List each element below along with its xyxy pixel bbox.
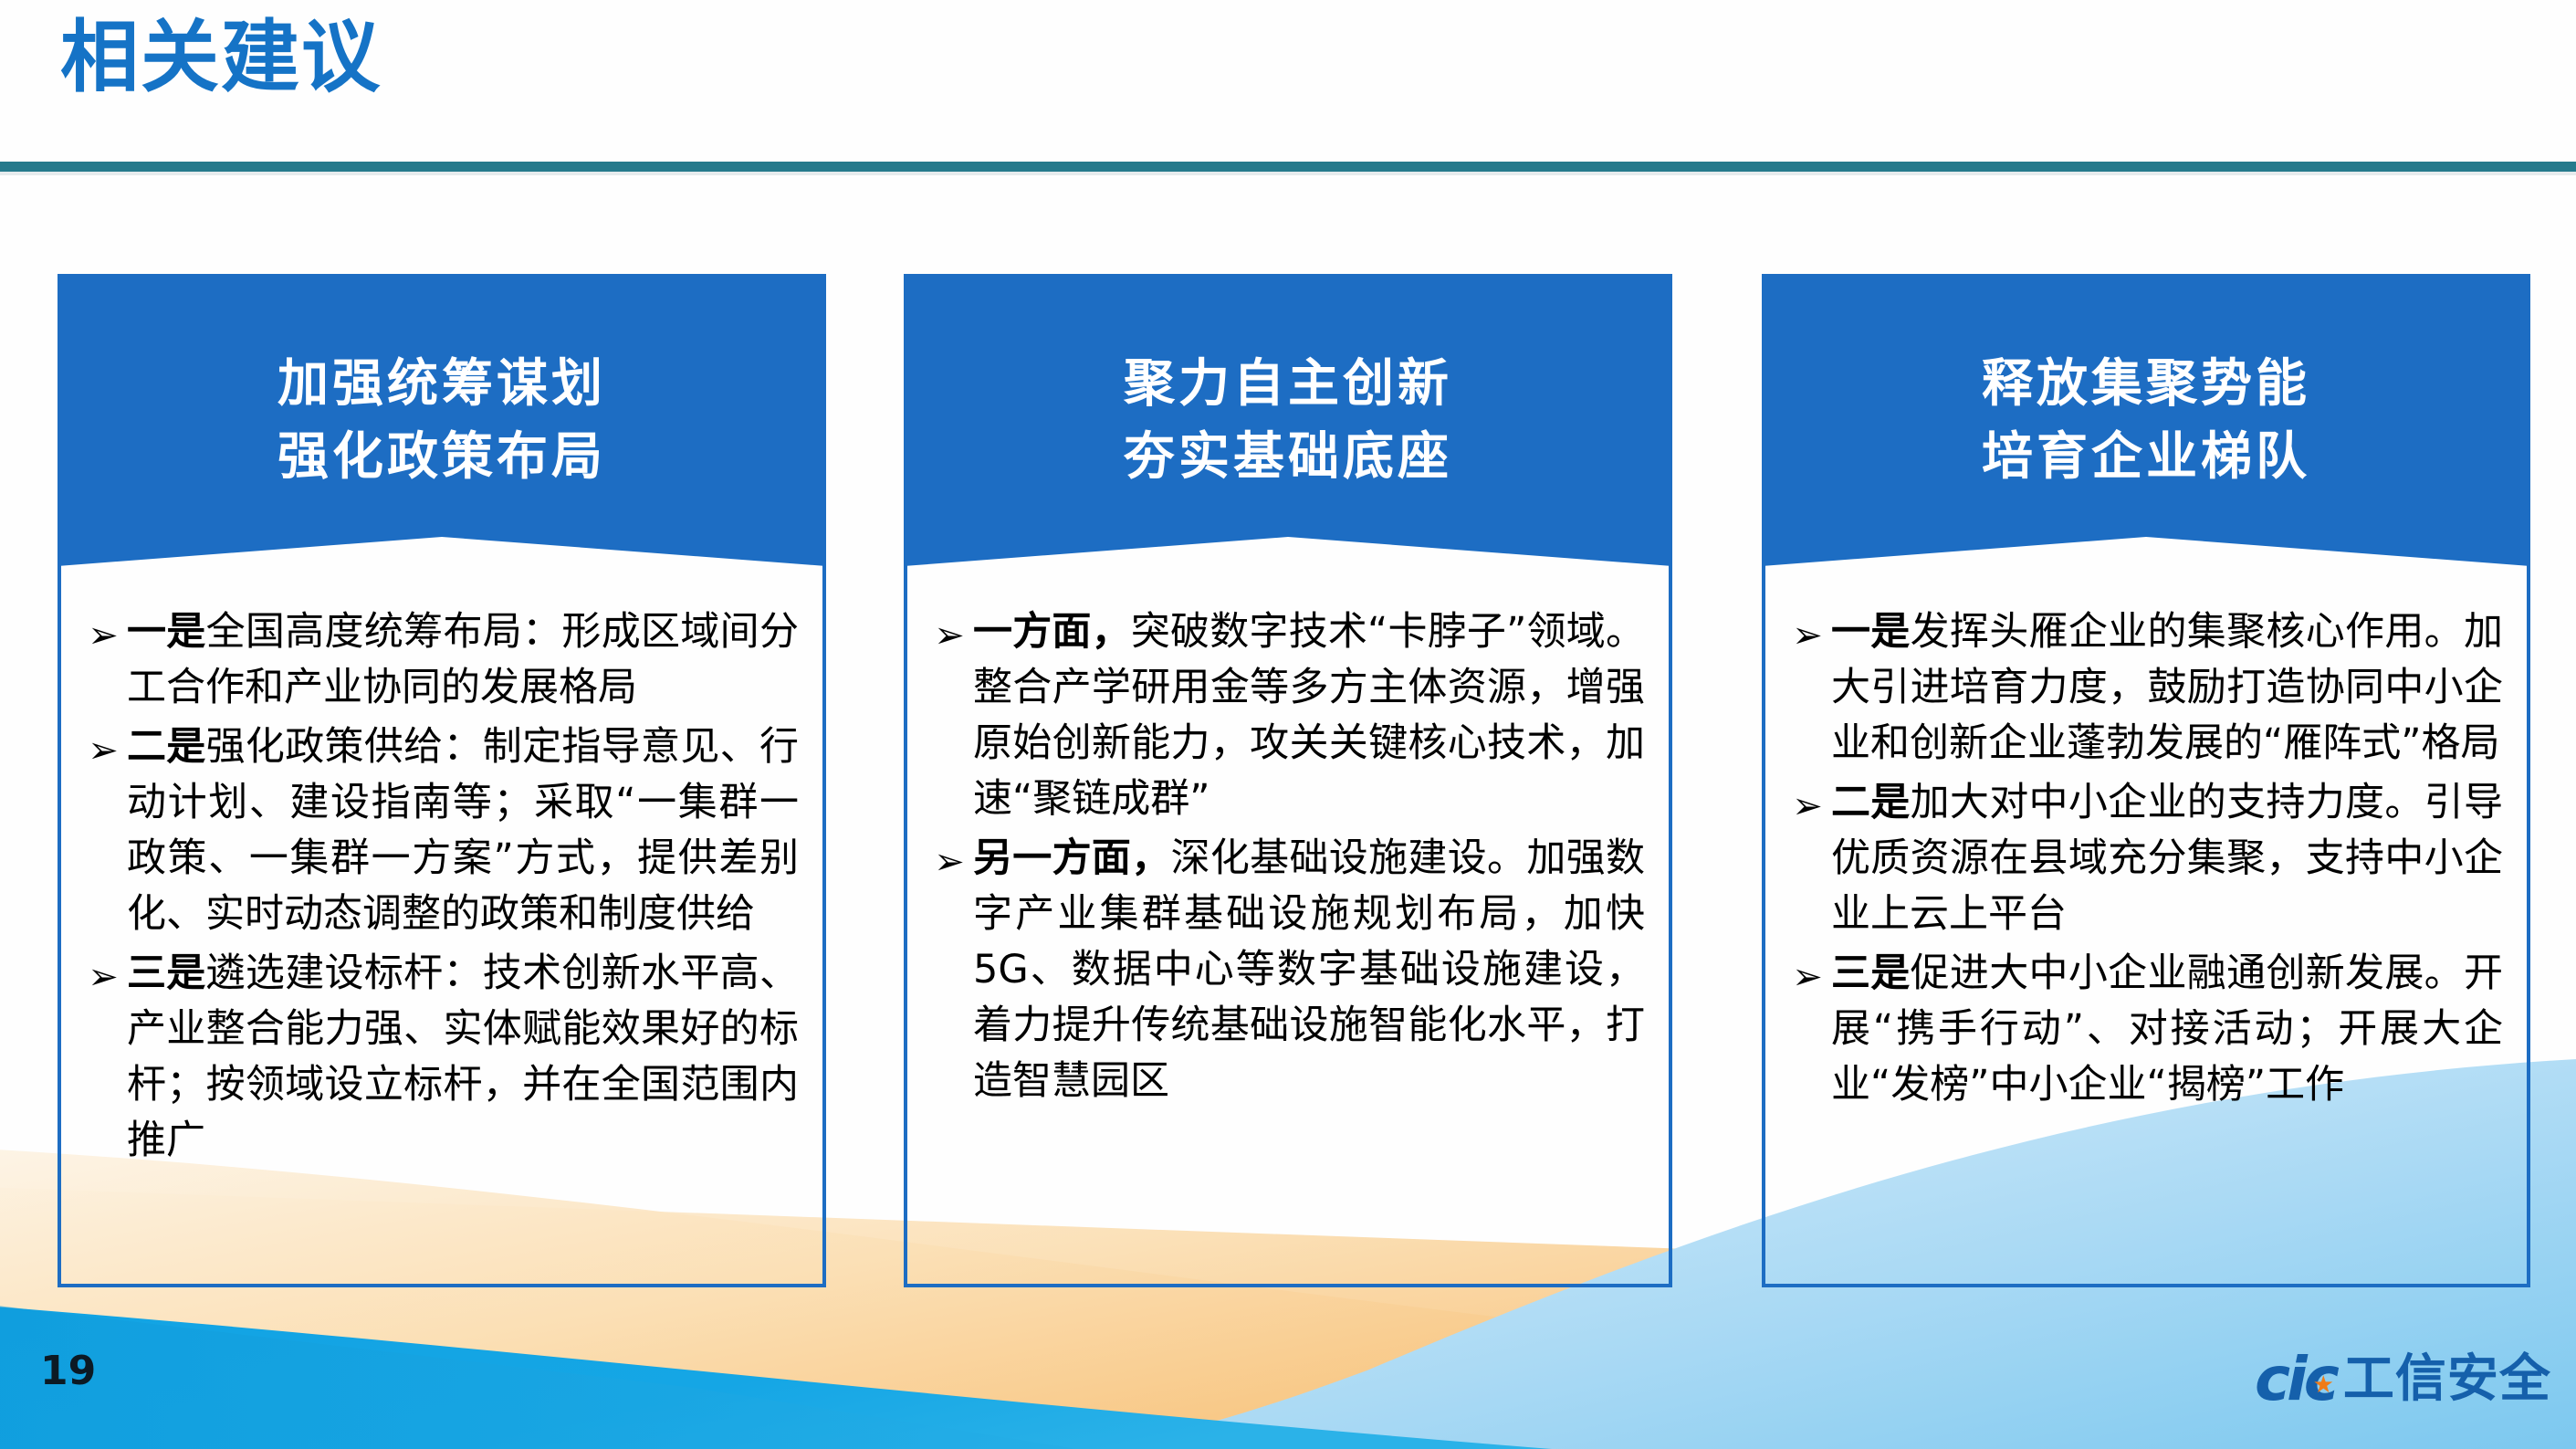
arrow-bullet-icon: ➢ [79, 719, 127, 777]
bullet-text: 三是促进大中小企业融通创新发展。开展“携手行动”、对接活动；开展大企业“发榜”中… [1831, 946, 2503, 1113]
bullet-text: 一是发挥头雁企业的集聚核心作用。加大引进培育力度，鼓励打造协同中小企业和创新企业… [1831, 604, 2503, 772]
arrow-bullet-icon: ➢ [79, 946, 127, 1003]
bullet-text: 一是全国高度统筹布局：形成区域间分工合作和产业协同的发展格局 [127, 604, 799, 716]
bullet-lead: 另一方面， [973, 835, 1171, 881]
list-item: ➢ 一方面，突破数字技术“卡脖子”领域。整合产学研用金等多方主体资源，增强原始创… [926, 604, 1645, 827]
page-title: 相关建议 [60, 16, 382, 99]
arrow-bullet-icon: ➢ [1784, 775, 1831, 833]
bullet-text: 另一方面，深化基础设施建设。加强数字产业集群基础设施规划布局，加快5G、数据中心… [973, 831, 1645, 1109]
bullet-lead: 一是 [127, 609, 206, 655]
card-1-header: 加强统筹谋划 强化政策布局 [58, 274, 826, 566]
card-1-body: ➢ 一是全国高度统筹布局：形成区域间分工合作和产业协同的发展格局 ➢ 二是强化政… [58, 533, 826, 1287]
card-1-header-line-2: 强化政策布局 [277, 420, 606, 493]
bullet-body: 加大对中小企业的支持力度。引导优质资源在县域充分集聚，支持中小企业上云上平台 [1831, 780, 2503, 937]
card-2-header-line-1: 聚力自主创新 [1124, 347, 1452, 420]
arrow-bullet-icon: ➢ [1784, 946, 1831, 1003]
card-1-header-line-1: 加强统筹谋划 [277, 347, 606, 420]
brand-name-cn: 工信安全 [2343, 1354, 2551, 1405]
bullet-lead: 一是 [1831, 609, 1911, 655]
bullet-text: 二是加大对中小企业的支持力度。引导优质资源在县域充分集聚，支持中小企业上云上平台 [1831, 775, 2503, 942]
bullet-text: 三是遴选建设标杆：技术创新水平高、产业整合能力强、实体赋能效果好的标杆；按领域设… [127, 946, 799, 1169]
list-item: ➢ 二是强化政策供给：制定指导意见、行动计划、建设指南等；采取“一集群一政策、一… [79, 719, 799, 942]
recommendation-card-2: 聚力自主创新 夯实基础底座 ➢ 一方面，突破数字技术“卡脖子”领域。整合产学研用… [904, 274, 1672, 1287]
page-number: 19 [40, 1348, 96, 1394]
title-divider-shadow [0, 172, 2576, 175]
card-2-header: 聚力自主创新 夯实基础底座 [904, 274, 1672, 566]
bullet-lead: 二是 [127, 724, 206, 770]
arrow-bullet-icon: ➢ [1784, 604, 1831, 662]
bullet-body: 促进大中小企业融通创新发展。开展“携手行动”、对接活动；开展大企业“发榜”中小企… [1831, 950, 2503, 1108]
recommendation-card-3: 释放集聚势能 培育企业梯队 ➢ 一是发挥头雁企业的集聚核心作用。加大引进培育力度… [1762, 274, 2530, 1287]
bullet-body: 发挥头雁企业的集聚核心作用。加大引进培育力度，鼓励打造协同中小企业和创新企业蓬勃… [1831, 609, 2503, 766]
card-3-header-line-2: 培育企业梯队 [1982, 420, 2310, 493]
bullet-body: 强化政策供给：制定指导意见、行动计划、建设指南等；采取“一集群一政策、一集群一方… [127, 724, 799, 937]
arrow-bullet-icon: ➢ [926, 604, 973, 662]
card-3-body: ➢ 一是发挥头雁企业的集聚核心作用。加大引进培育力度，鼓励打造协同中小企业和创新… [1762, 533, 2530, 1287]
title-divider [0, 162, 2576, 172]
list-item: ➢ 三是遴选建设标杆：技术创新水平高、产业整合能力强、实体赋能效果好的标杆；按领… [79, 946, 799, 1169]
card-2-body: ➢ 一方面，突破数字技术“卡脖子”领域。整合产学研用金等多方主体资源，增强原始创… [904, 533, 1672, 1287]
bullet-lead: 三是 [127, 950, 206, 996]
list-item: ➢ 一是发挥头雁企业的集聚核心作用。加大引进培育力度，鼓励打造协同中小企业和创新… [1784, 604, 2503, 772]
star-icon: ★ [2313, 1373, 2330, 1397]
bullet-body: 全国高度统筹布局：形成区域间分工合作和产业协同的发展格局 [127, 609, 799, 710]
bullet-lead: 一方面， [973, 609, 1131, 655]
list-item: ➢ 二是加大对中小企业的支持力度。引导优质资源在县域充分集聚，支持中小企业上云上… [1784, 775, 2503, 942]
recommendation-cards: 加强统筹谋划 强化政策布局 ➢ 一是全国高度统筹布局：形成区域间分工合作和产业协… [0, 274, 2576, 1306]
bullet-text: 二是强化政策供给：制定指导意见、行动计划、建设指南等；采取“一集群一政策、一集群… [127, 719, 799, 942]
card-3-header-line-1: 释放集聚势能 [1982, 347, 2310, 420]
bullet-lead: 二是 [1831, 780, 1911, 825]
card-2-header-line-2: 夯实基础底座 [1124, 420, 1452, 493]
list-item: ➢ 三是促进大中小企业融通创新发展。开展“携手行动”、对接活动；开展大企业“发榜… [1784, 946, 2503, 1113]
arrow-bullet-icon: ➢ [926, 831, 973, 888]
bullet-body: 遴选建设标杆：技术创新水平高、产业整合能力强、实体赋能效果好的标杆；按领域设立标… [127, 950, 799, 1163]
recommendation-card-1: 加强统筹谋划 强化政策布局 ➢ 一是全国高度统筹布局：形成区域间分工合作和产业协… [58, 274, 826, 1287]
bullet-lead: 三是 [1831, 950, 1911, 996]
arrow-bullet-icon: ➢ [79, 604, 127, 662]
list-item: ➢ 一是全国高度统筹布局：形成区域间分工合作和产业协同的发展格局 [79, 604, 799, 716]
bullet-text: 一方面，突破数字技术“卡脖子”领域。整合产学研用金等多方主体资源，增强原始创新能… [973, 604, 1645, 827]
slide-root: 相关建议 加强统筹谋划 强化政策布局 ➢ 一是全国高度统筹布局：形成区域间分工合… [0, 0, 2576, 1449]
list-item: ➢ 另一方面，深化基础设施建设。加强数字产业集群基础设施规划布局，加快5G、数据… [926, 831, 1645, 1109]
brand-logo: cic★ 工信安全 [2255, 1349, 2551, 1410]
cic-logo-mark: cic★ [2255, 1349, 2336, 1410]
card-3-header: 释放集聚势能 培育企业梯队 [1762, 274, 2530, 566]
